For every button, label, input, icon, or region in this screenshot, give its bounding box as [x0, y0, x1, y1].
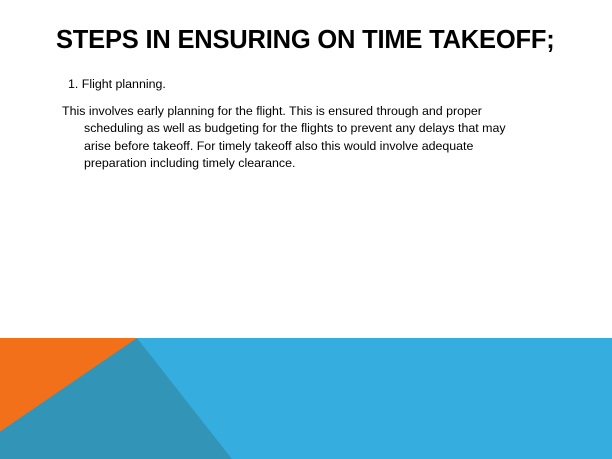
- band-graphic: [0, 338, 612, 459]
- body-paragraph: This involves early planning for the fli…: [0, 92, 612, 172]
- page-title: Steps in ensuring on time takeoff;: [56, 26, 576, 55]
- band-shapes: [0, 338, 612, 459]
- slide: Steps in ensuring on time takeoff; 1. Fl…: [0, 0, 612, 459]
- decorative-band: [0, 338, 612, 459]
- list-item: 1. Flight planning.: [0, 76, 612, 92]
- slide-body: 1. Flight planning. This involves early …: [0, 76, 612, 172]
